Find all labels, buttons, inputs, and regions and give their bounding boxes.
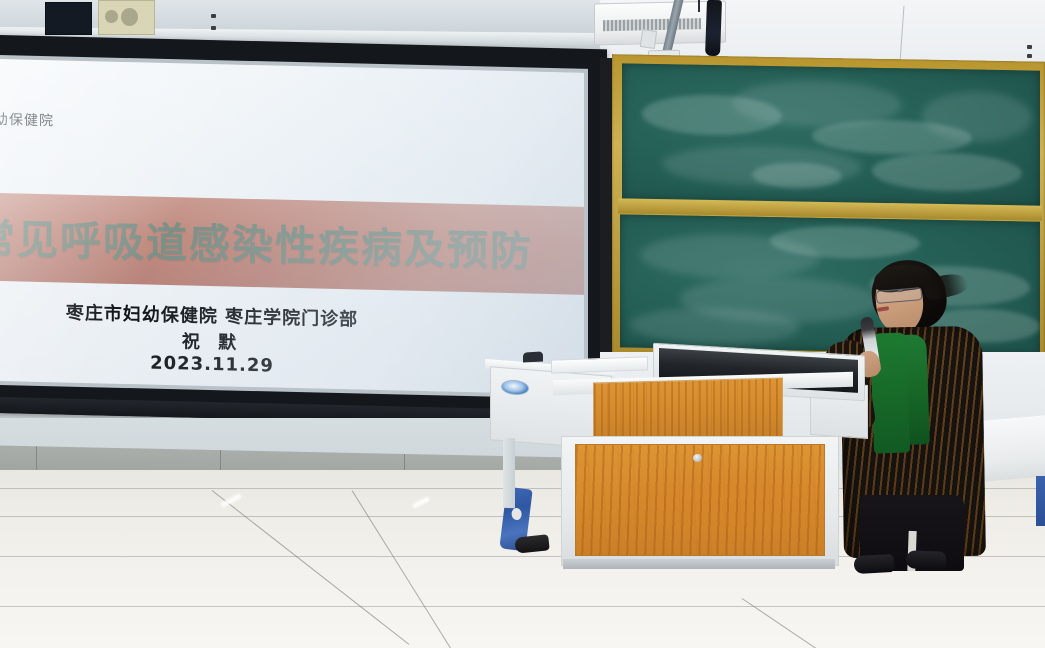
- glasses-bridge: [898, 289, 903, 292]
- presenter-shoe-right: [906, 550, 947, 569]
- lectern-small-object: [523, 351, 543, 362]
- wall-sensor-dot: [211, 14, 216, 18]
- wall-speaker-beige-icon: [98, 0, 155, 35]
- lectern-leg: [503, 438, 515, 508]
- wall-sensor-dot: [211, 26, 216, 30]
- wall-sensor-dot: [1027, 54, 1032, 58]
- cloth-hole: [511, 508, 522, 521]
- projector-vent: [603, 18, 701, 31]
- lectern: [533, 376, 853, 576]
- projector-bracket: [640, 29, 657, 49]
- presenter-shoe-left: [854, 554, 895, 574]
- projection-screen-surface: 幼保健院 常见呼吸道感染性疾病及预防 枣庄市妇幼保健院 枣庄学院门诊部 祝 默 …: [0, 59, 584, 395]
- hanging-microphone-icon: [705, 0, 722, 56]
- wall-sensor-dot: [1027, 45, 1032, 49]
- chalkboard-panel-upper: [622, 63, 1040, 206]
- lectern-base: [563, 559, 835, 569]
- slide-header-text: 幼保健院: [0, 109, 584, 143]
- blue-cloth-edge: [1036, 476, 1045, 526]
- lectern-knob[interactable]: [693, 454, 702, 462]
- microphone-wire: [698, 0, 700, 12]
- lecture-hall-photo: 幼保健院 常见呼吸道感染性疾病及预防 枣庄市妇幼保健院 枣庄学院门诊部 祝 默 …: [0, 0, 1045, 648]
- wall-speaker-dark-icon: [45, 2, 92, 35]
